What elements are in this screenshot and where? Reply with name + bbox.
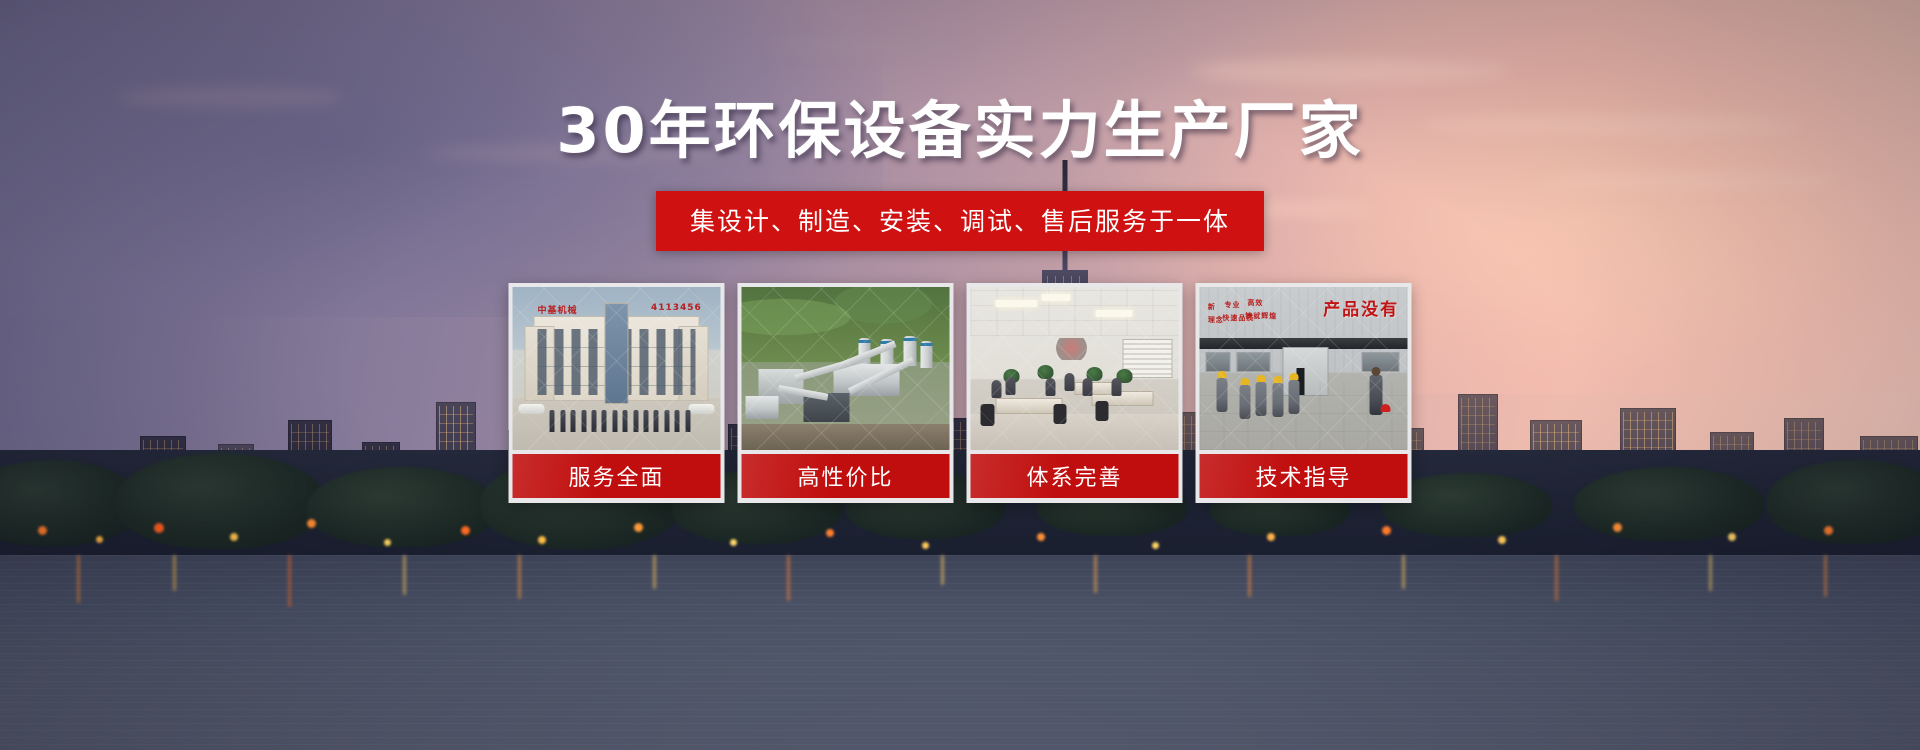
- red-helmet-icon: [1381, 404, 1391, 412]
- card-label: 体系完善: [971, 454, 1179, 498]
- feature-card-list: 中基机械 4113456 服务全面: [509, 283, 1412, 503]
- feature-card[interactable]: 中基机械 4113456 服务全面: [509, 283, 725, 503]
- building-phone: 4113456: [651, 303, 702, 313]
- hero-banner: 30年环保设备实力生产厂家 集设计、制造、安装、调试、售后服务于一体 中基机械 …: [0, 0, 1920, 750]
- feature-card[interactable]: 体系完善: [967, 283, 1183, 503]
- building-signage: 中基机械: [537, 303, 577, 316]
- card-label: 技术指导: [1200, 454, 1408, 498]
- card-label: 高性价比: [742, 454, 950, 498]
- card-image-factory-workers: 产品没有 新 专业 高效 理念 快速品质 铸就辉煌: [1200, 287, 1408, 450]
- card-image-headquarters: 中基机械 4113456: [513, 287, 721, 450]
- subtitle-badge: 集设计、制造、安装、调试、售后服务于一体: [656, 191, 1264, 251]
- feature-card[interactable]: 产品没有 新 专业 高效 理念 快速品质 铸就辉煌: [1196, 283, 1412, 503]
- factory-wall-text: 产品没有: [1323, 295, 1399, 320]
- card-image-office-interior: [971, 287, 1179, 450]
- card-label: 服务全面: [513, 454, 721, 498]
- page-title: 30年环保设备实力生产厂家: [0, 98, 1920, 163]
- feature-card[interactable]: 高性价比: [738, 283, 954, 503]
- banner-content: 30年环保设备实力生产厂家 集设计、制造、安装、调试、售后服务于一体 中基机械 …: [0, 0, 1920, 750]
- card-image-plant-aerial: [742, 287, 950, 450]
- wall-logo: [1054, 338, 1090, 360]
